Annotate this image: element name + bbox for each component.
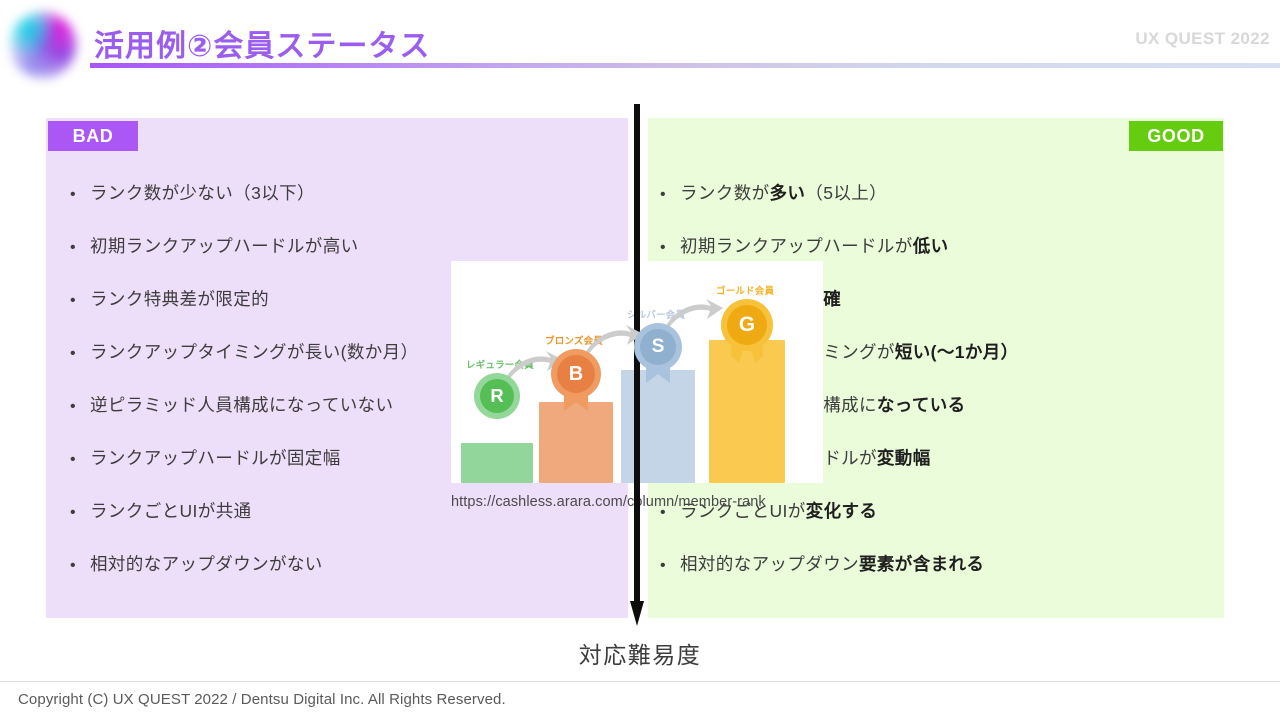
bullet-dot-icon: • [660, 558, 680, 574]
bullet-dot-icon: • [660, 187, 680, 203]
bullet-dot-icon: • [70, 187, 90, 203]
good-badge: GOOD [1129, 121, 1223, 151]
rank-medal-inner: G [727, 305, 767, 345]
gradient-orb-logo-icon [9, 11, 77, 79]
good-bullet-emphasis: 短い(〜1か月） [895, 342, 1019, 362]
rank-medal-r-icon: R [474, 373, 520, 419]
rank-bar-b [539, 402, 613, 483]
good-bullet-emphasis: 要素が含まれる [859, 554, 984, 574]
rank-label-g: ゴールド会員 [716, 283, 774, 297]
brand-label: UX QUEST 2022 [1135, 29, 1270, 49]
bad-bullet-text: 相対的なアップダウンがない [90, 551, 628, 576]
footer-copyright: Copyright (C) UX QUEST 2022 / Dentsu Dig… [18, 691, 506, 708]
bad-bullet-text: ランク数が少ない（3以下） [90, 180, 628, 205]
figure-source-url: https://cashless.arara.com/column/member… [451, 494, 851, 510]
rank-medal-inner: S [640, 329, 676, 365]
rank-medal-inner: R [480, 379, 514, 413]
good-bullet-emphasis: 低い [913, 236, 949, 256]
bad-bullet-item: •相対的なアップダウンがない [70, 551, 628, 604]
good-bullet-item: •ランク数が多い（5以上） [660, 180, 1224, 233]
bullet-dot-icon: • [70, 293, 90, 309]
bullet-dot-icon: • [70, 558, 90, 574]
difficulty-axis-label: 対応難易度 [0, 636, 1280, 670]
rank-medal-inner: B [557, 355, 595, 393]
rank-medal-s-icon: S [634, 323, 682, 371]
bullet-dot-icon: • [70, 452, 90, 468]
good-bullet-emphasis: 変動幅 [877, 448, 931, 468]
bullet-dot-icon: • [70, 240, 90, 256]
bullet-dot-icon: • [70, 346, 90, 362]
rank-medal-b-icon: B [551, 349, 601, 399]
bad-badge: BAD [48, 121, 138, 151]
bullet-dot-icon: • [660, 240, 680, 256]
bad-bullet-item: •ランク数が少ない（3以下） [70, 180, 628, 233]
rank-medal-g-icon: G [721, 299, 773, 351]
good-bullet-text: 相対的なアップダウン要素が含まれる [680, 551, 1224, 576]
slide-canvas: 活用例②会員ステータス UX QUEST 2022 BAD •ランク数が少ない（… [0, 0, 1280, 720]
footer-divider [0, 681, 1280, 682]
title-underline-rule [90, 63, 1280, 68]
bullet-dot-icon: • [70, 505, 90, 521]
good-bullet-emphasis: 多い [770, 183, 806, 203]
rank-bar-r [461, 443, 533, 483]
good-bullet-text: 初期ランクアップハードルが低い [680, 233, 1224, 258]
bullet-dot-icon: • [70, 399, 90, 415]
bad-bullet-text: 初期ランクアップハードルが高い [90, 233, 628, 258]
page-title: 活用例②会員ステータス [94, 21, 430, 65]
good-bullet-text: ランク数が多い（5以上） [680, 180, 1224, 205]
good-bullet-emphasis: なっている [877, 395, 966, 415]
good-bullet-item: •相対的なアップダウン要素が含まれる [660, 551, 1224, 604]
